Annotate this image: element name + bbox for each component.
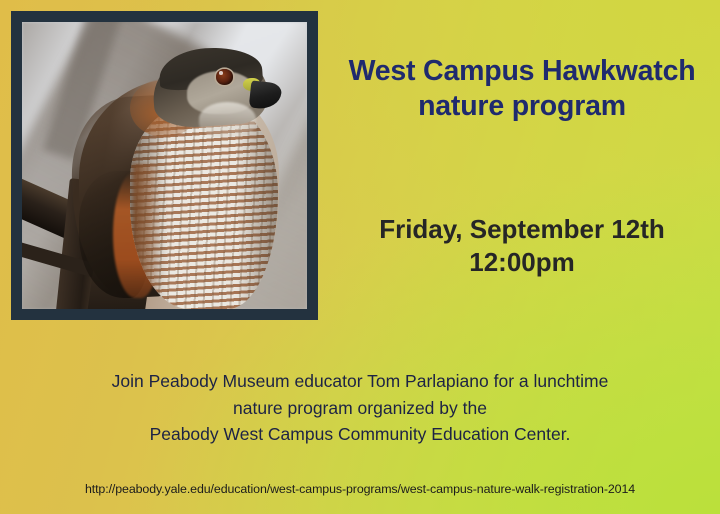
hawk-photo <box>22 22 307 309</box>
poster-title: West Campus Hawkwatch nature program <box>330 54 714 125</box>
event-description-line-1: Join Peabody Museum educator Tom Parlapi… <box>30 368 690 395</box>
hawk-eye-glint <box>219 71 224 75</box>
event-time: 12:00pm <box>330 246 714 279</box>
registration-url[interactable]: http://peabody.yale.edu/education/west-c… <box>30 482 690 497</box>
event-description: Join Peabody Museum educator Tom Parlapi… <box>30 368 690 448</box>
event-datetime: Friday, September 12th 12:00pm <box>330 213 714 280</box>
hawk-illustration <box>22 22 307 309</box>
poster-title-line-1: West Campus Hawkwatch <box>330 54 714 89</box>
poster-canvas: West Campus Hawkwatch nature program Fri… <box>0 0 720 514</box>
hawk-throat <box>199 102 256 136</box>
event-date: Friday, September 12th <box>330 213 714 246</box>
poster-title-line-2: nature program <box>330 89 714 124</box>
hawk-photo-frame <box>11 11 318 320</box>
event-description-line-3: Peabody West Campus Community Education … <box>30 421 690 448</box>
event-description-line-2: nature program organized by the <box>30 395 690 422</box>
